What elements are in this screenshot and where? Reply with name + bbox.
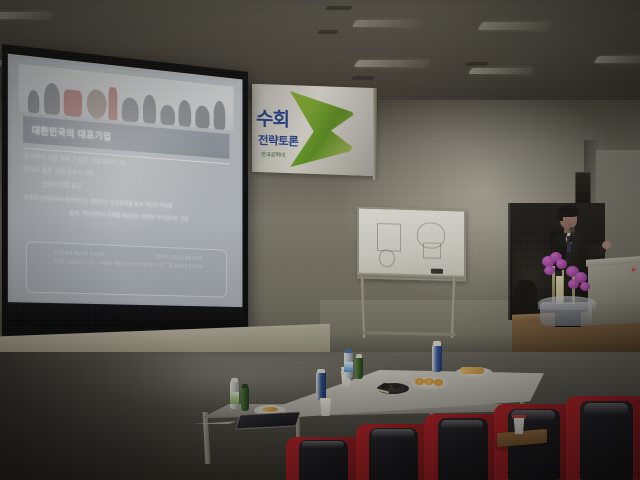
green-bottle[interactable] bbox=[355, 357, 363, 379]
recess-equipment bbox=[515, 280, 537, 310]
callout-text-left: 투명경영과 개방적인 조직문화 bbox=[54, 251, 104, 259]
bottle-cap[interactable] bbox=[317, 369, 325, 373]
orchid-petal bbox=[556, 259, 567, 269]
water-bottle[interactable] bbox=[432, 345, 442, 372]
seat-highlight bbox=[584, 403, 629, 415]
orchid-petal bbox=[544, 266, 555, 275]
banner-shading bbox=[252, 84, 376, 176]
whiteboard-eraser[interactable] bbox=[431, 269, 443, 274]
auditorium-seat[interactable] bbox=[286, 437, 360, 480]
dark-snack-food bbox=[392, 383, 401, 389]
ceiling-light-fixture bbox=[352, 20, 423, 27]
ceiling-vent bbox=[351, 76, 376, 80]
floor-shadow bbox=[0, 352, 200, 480]
whiteboard-marking bbox=[379, 249, 395, 267]
seat-highlight bbox=[302, 441, 343, 448]
screen-bottom-bar bbox=[8, 302, 243, 329]
orchid-petal bbox=[580, 282, 590, 291]
auditorium-seat[interactable] bbox=[356, 424, 430, 480]
microphone-head-icon bbox=[569, 227, 575, 232]
paper-cup-rim bbox=[512, 415, 526, 418]
projection-surface: 대한민국의 대표기업 한국에서 가장 일하고 싶은 기업 BEST 30 일하고… bbox=[8, 54, 243, 329]
green-bottle[interactable] bbox=[241, 387, 249, 411]
seat-highlight bbox=[372, 429, 413, 438]
snack-food bbox=[262, 407, 278, 412]
event-banner: 수회 전략토론 한국공학대 bbox=[252, 84, 376, 176]
indicator-light bbox=[632, 268, 635, 271]
seat-highlight bbox=[441, 420, 484, 430]
projected-slide: 대한민국의 대표기업 한국에서 가장 일하고 싶은 기업 BEST 30 일하고… bbox=[11, 58, 240, 305]
flower-basket bbox=[540, 302, 592, 326]
ceiling-light-fixture bbox=[354, 60, 431, 67]
ceiling-vent bbox=[317, 30, 340, 34]
bottle-cap[interactable] bbox=[242, 384, 248, 388]
bottle-cap[interactable] bbox=[231, 378, 238, 382]
ceiling-vent bbox=[465, 62, 490, 66]
projection-screen: 대한민국의 대표기업 한국에서 가장 일하고 싶은 기업 BEST 30 일하고… bbox=[2, 44, 248, 338]
flower-arrangement bbox=[536, 252, 602, 330]
water-bottle-label bbox=[344, 362, 353, 372]
orange-slice bbox=[415, 378, 424, 385]
bottle-cap[interactable] bbox=[356, 354, 362, 358]
water-bottle[interactable] bbox=[316, 372, 326, 400]
conference-hall-photo: 수회 전략토론 한국공학대 bbox=[0, 0, 640, 480]
ceiling-light-fixture bbox=[468, 68, 534, 74]
orange-slice bbox=[424, 378, 434, 385]
ceiling-light-fixture bbox=[477, 22, 552, 30]
slide-title-text: 대한민국의 대표기업 bbox=[23, 122, 111, 143]
ceiling-light-fixture bbox=[594, 56, 640, 63]
slide-callout-box: 투명경영과 개방적인 조직문화 열정적인 인재들을 향한 맞춤형 이러한 기업들… bbox=[26, 242, 228, 298]
water-bottle-label bbox=[230, 392, 239, 404]
bottle-cap[interactable] bbox=[433, 341, 441, 346]
orchid-petal bbox=[568, 279, 579, 289]
dark-snack-food bbox=[381, 383, 390, 389]
auditorium-seat[interactable] bbox=[424, 414, 500, 480]
wall-speaker-box bbox=[575, 172, 591, 206]
ceiling-light-fixture bbox=[0, 12, 54, 19]
whiteboard-marking bbox=[377, 223, 401, 252]
whiteboard bbox=[357, 206, 466, 281]
cracker-food bbox=[460, 367, 484, 374]
whiteboard-marking bbox=[423, 242, 441, 259]
orange-slice bbox=[434, 379, 443, 386]
bottle-cap[interactable] bbox=[345, 349, 352, 353]
ceiling-vent bbox=[325, 6, 354, 10]
auditorium-seat[interactable] bbox=[566, 396, 640, 480]
callout-text-right: 열정적인 인재들을 향한 맞춤형 bbox=[155, 255, 203, 263]
banner-pole bbox=[373, 88, 377, 180]
presenter-hair-side bbox=[557, 210, 563, 221]
